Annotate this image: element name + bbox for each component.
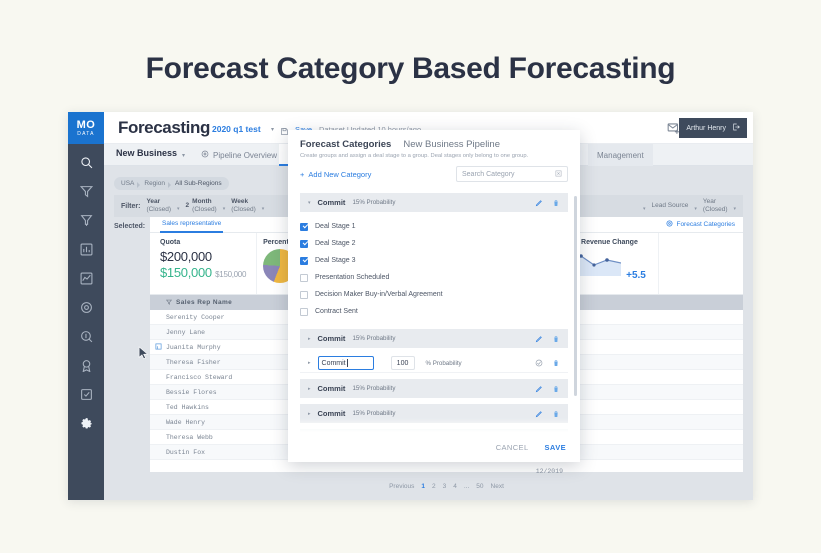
filter-name: Year [703, 198, 716, 205]
chevron-right-icon[interactable]: ▸ [308, 386, 311, 392]
probability-unit-label: % Probability [426, 360, 462, 367]
deal-stage-row[interactable]: Decision Maker Buy-in/Verbal Agreement [288, 286, 580, 303]
edit-icon[interactable] [535, 330, 543, 348]
filter-year-closed[interactable]: Year(Closed) [146, 198, 171, 214]
category-probability: 15% Probability [352, 199, 395, 206]
modal-body: ▾ Commit 15% Probability Deal Stage 1 De… [288, 193, 580, 432]
search-icon [80, 156, 93, 174]
cell-sales-rep-name: Jenny Lane [166, 329, 306, 336]
pagination-page-2[interactable]: 2 [432, 483, 436, 490]
business-selector-chevron-icon[interactable]: ▾ [182, 152, 185, 159]
add-new-category-button[interactable]: + Add New Category [300, 170, 371, 179]
breadcrumb-item[interactable]: Region [139, 180, 170, 187]
line-chart-icon [80, 272, 93, 290]
chevron-down-icon[interactable]: ▾ [262, 201, 265, 212]
filter-month-closed[interactable]: 2 Month(Closed) [186, 198, 217, 214]
deal-stage-row[interactable]: Contract Sent [288, 303, 580, 320]
delete-icon[interactable] [552, 354, 560, 372]
checkbox-unchecked[interactable] [300, 291, 308, 299]
category-name-input[interactable]: Commit [318, 356, 374, 370]
logo-secondary-text: DATA [77, 132, 94, 137]
category-group-row[interactable]: ▾ Commit 15% Probability [300, 193, 568, 212]
business-selector[interactable]: New Business [116, 148, 177, 158]
category-probability: 15% Probability [352, 385, 395, 392]
deal-stage-row[interactable]: Deal Stage 2 [288, 235, 580, 252]
clear-icon[interactable] [555, 170, 562, 179]
app-title: Forecasting [118, 118, 210, 138]
tab-label: Management [597, 151, 644, 160]
chevron-down-icon[interactable]: ▾ [733, 201, 736, 212]
cell-sales-rep-name: Dustin Fox [166, 449, 306, 456]
category-group-row-editing[interactable]: ▸ Commit 100 % Probability [300, 354, 568, 373]
cell-sales-rep-name: Wade Henry [166, 419, 306, 426]
user-menu[interactable]: Arthur Henry [679, 118, 747, 138]
dataset-version-label[interactable]: 2020 q1 test [212, 124, 261, 134]
clipboard-check-icon [80, 388, 93, 406]
cell-sales-rep-name: Serenity Cooper [166, 314, 306, 321]
filter-name: Month [192, 198, 217, 206]
pagination: Previous 1 2 3 4 ... 50 Next [150, 476, 743, 496]
filter-icon[interactable] [166, 299, 172, 307]
cell-sales-rep-name: Francisco Steward [166, 374, 306, 381]
cell-sales-rep-name: Juanita Murphy [166, 344, 306, 351]
pagination-ellipsis: ... [464, 483, 469, 490]
sidebar-item-target[interactable] [68, 295, 104, 324]
chevron-down-icon[interactable]: ▾ [177, 201, 180, 212]
logout-icon[interactable] [732, 123, 740, 133]
breadcrumb-item[interactable]: USA [116, 180, 139, 187]
edit-icon[interactable] [535, 194, 543, 212]
pagination-page-4[interactable]: 4 [453, 483, 457, 490]
modal-footer: CANCEL SAVE [288, 432, 580, 462]
delete-icon[interactable] [552, 380, 560, 398]
filter-label: Filter: [121, 203, 140, 210]
modal-scrollbar[interactable] [574, 196, 577, 396]
modal-title: Forecast Categories [300, 139, 391, 150]
category-name: Commit [318, 198, 346, 207]
checkbox-checked[interactable] [300, 257, 308, 265]
breadcrumb-item[interactable]: All Sub-Regions [170, 180, 227, 187]
kpi-quota: Quota $200,000 $150,000 $150,000 [150, 233, 257, 294]
category-name: Commit [318, 409, 346, 418]
sidebar-item-filter[interactable] [68, 179, 104, 208]
kpi-secondary-value: $150,000 $150,000 [160, 265, 246, 280]
cell-sales-rep-name: Ted Hawkins [166, 404, 306, 411]
trend-value: +5.5 [626, 270, 646, 281]
plus-icon: + [300, 170, 304, 179]
save-button[interactable]: SAVE [545, 443, 566, 452]
chevron-down-icon[interactable]: ▾ [643, 201, 646, 212]
chevron-down-icon[interactable]: ▾ [271, 126, 274, 133]
modal-toolbar: + Add New Category Search Category [288, 159, 580, 188]
sidebar-item-deal-search[interactable] [68, 324, 104, 353]
deal-stage-label: Deal Stage 2 [315, 240, 355, 247]
chevron-down-icon[interactable]: ▾ [223, 201, 226, 212]
award-icon [80, 359, 93, 377]
category-name: Commit [318, 384, 346, 393]
row-detail-icon[interactable] [155, 343, 162, 352]
mouse-cursor [138, 346, 149, 365]
deal-stage-label: Decision Maker Buy-in/Verbal Agreement [315, 291, 443, 298]
cancel-button[interactable]: CANCEL [496, 443, 529, 452]
category-probability: 15% Probability [352, 410, 395, 417]
deal-stage-label: Presentation Scheduled [315, 274, 389, 281]
filter-qualifier: (Closed) [192, 206, 217, 213]
chevron-right-icon[interactable]: ▸ [308, 336, 311, 342]
deal-stage-label: Deal Stage 3 [315, 257, 355, 264]
filter-count: 2 [186, 198, 190, 209]
sidebar: MO DATA [68, 112, 104, 500]
sidebar-item-award[interactable] [68, 353, 104, 382]
pagination-page-1[interactable]: 1 [421, 483, 425, 490]
cell-sales-rep-name: Bessie Flores [166, 389, 306, 396]
delete-icon[interactable] [552, 194, 560, 212]
sidebar-item-funnel[interactable] [68, 208, 104, 237]
filter-name: Week [231, 198, 256, 206]
funnel-icon [80, 214, 93, 232]
category-name: Commit [318, 334, 346, 343]
filter-lead-source[interactable]: Lead Source [652, 202, 689, 210]
card-tab-sales-representative[interactable]: Sales representative [160, 217, 223, 233]
forecast-categories-label: Forecast Categories [676, 221, 735, 228]
date-note: 12/2019 [536, 468, 563, 475]
confirm-icon[interactable] [535, 354, 543, 372]
tab-label: Pipeline Overview [213, 151, 277, 160]
cell-sales-rep-name: Theresa Webb [166, 434, 306, 441]
checkbox-unchecked[interactable] [300, 308, 308, 316]
breadcrumb: USA Region All Sub-Regions [114, 177, 229, 190]
column-label: Sales Rep Name [176, 299, 232, 306]
category-group-row[interactable]: ▸ Commit 15% Probability [300, 329, 568, 348]
column-header-sales-rep-name[interactable]: Sales Rep Name [166, 299, 306, 307]
filter-qualifier: (Closed) [703, 206, 728, 213]
filter-week-closed[interactable]: Week(Closed) [231, 198, 256, 214]
modal-header: Forecast Categories New Business Pipelin… [288, 130, 580, 159]
sidebar-item-search[interactable] [68, 150, 104, 179]
page-title: Forecast Category Based Forecasting [0, 52, 821, 86]
delete-icon[interactable] [552, 330, 560, 348]
add-new-category-label: Add New Category [308, 170, 371, 179]
category-probability: 15% Probability [352, 335, 395, 342]
app-logo[interactable]: MO DATA [68, 112, 104, 144]
pagination-next[interactable]: Next [491, 483, 504, 490]
eye-icon [201, 150, 209, 160]
pagination-previous[interactable]: Previous [389, 483, 414, 490]
sidebar-item-settings[interactable] [68, 411, 104, 440]
chevron-right-icon[interactable]: ▸ [308, 360, 311, 366]
search-input-placeholder: Search Category [462, 171, 515, 178]
chevron-down-icon[interactable]: ▾ [308, 200, 311, 206]
modal-description: Create groups and assign a deal stage to… [300, 153, 568, 159]
gear-small-icon [666, 220, 673, 229]
pagination-page-3[interactable]: 3 [443, 483, 447, 490]
deal-stage-label: Deal Stage 1 [315, 223, 355, 230]
deal-stage-row[interactable]: Deal Stage 1 [288, 218, 580, 235]
user-name: Arthur Henry [686, 125, 726, 132]
category-probability-input[interactable]: 100 [391, 356, 415, 370]
edit-icon[interactable] [535, 380, 543, 398]
checkbox-checked[interactable] [300, 240, 308, 248]
deal-stage-row[interactable]: Deal Stage 3 [288, 252, 580, 269]
kpi-value: $200,000 [160, 249, 246, 264]
bar-chart-icon [80, 243, 93, 261]
screenshot-root: Forecast Category Based Forecasting MO D… [0, 0, 821, 553]
deal-stage-row[interactable]: Presentation Scheduled [288, 269, 580, 286]
chevron-right-icon[interactable]: ▸ [308, 411, 311, 417]
gear-icon [80, 417, 93, 435]
chevron-down-icon[interactable]: ▾ [694, 201, 697, 212]
filter-icon [80, 185, 93, 203]
filter-name: Year [146, 198, 171, 206]
checkbox-unchecked[interactable] [300, 274, 308, 282]
tab-management[interactable]: Management [588, 144, 653, 166]
checkbox-checked[interactable] [300, 223, 308, 231]
category-group-row[interactable]: ▸ Commit 15% Probability [300, 379, 568, 398]
kpi-title: Quota [160, 239, 246, 246]
tab-pipeline-overview[interactable]: Pipeline Overview [192, 144, 286, 166]
target-icon [80, 301, 93, 319]
sidebar-item-line-chart[interactable] [68, 266, 104, 295]
filter-name: Lead Source [652, 202, 689, 209]
forecast-categories-button[interactable]: Forecast Categories [666, 220, 735, 229]
forecast-categories-modal: Forecast Categories New Business Pipelin… [288, 130, 580, 462]
modal-pipeline-name: New Business Pipeline [403, 139, 500, 150]
sidebar-item-clipboard-check[interactable] [68, 382, 104, 411]
filter-year-closed-2[interactable]: Year(Closed) [703, 198, 728, 214]
logo-primary-text: MO [77, 120, 96, 131]
filter-qualifier: (Closed) [231, 206, 256, 213]
selected-label: Selected: [114, 223, 145, 230]
filter-qualifier: (Closed) [146, 206, 171, 213]
search-category-input[interactable]: Search Category [456, 166, 568, 182]
deal-search-icon [80, 330, 93, 348]
deal-stage-label: Contract Sent [315, 308, 358, 315]
sidebar-item-bar-chart[interactable] [68, 237, 104, 266]
cell-sales-rep-name: Theresa Fisher [166, 359, 306, 366]
pagination-page-50[interactable]: 50 [476, 483, 483, 490]
